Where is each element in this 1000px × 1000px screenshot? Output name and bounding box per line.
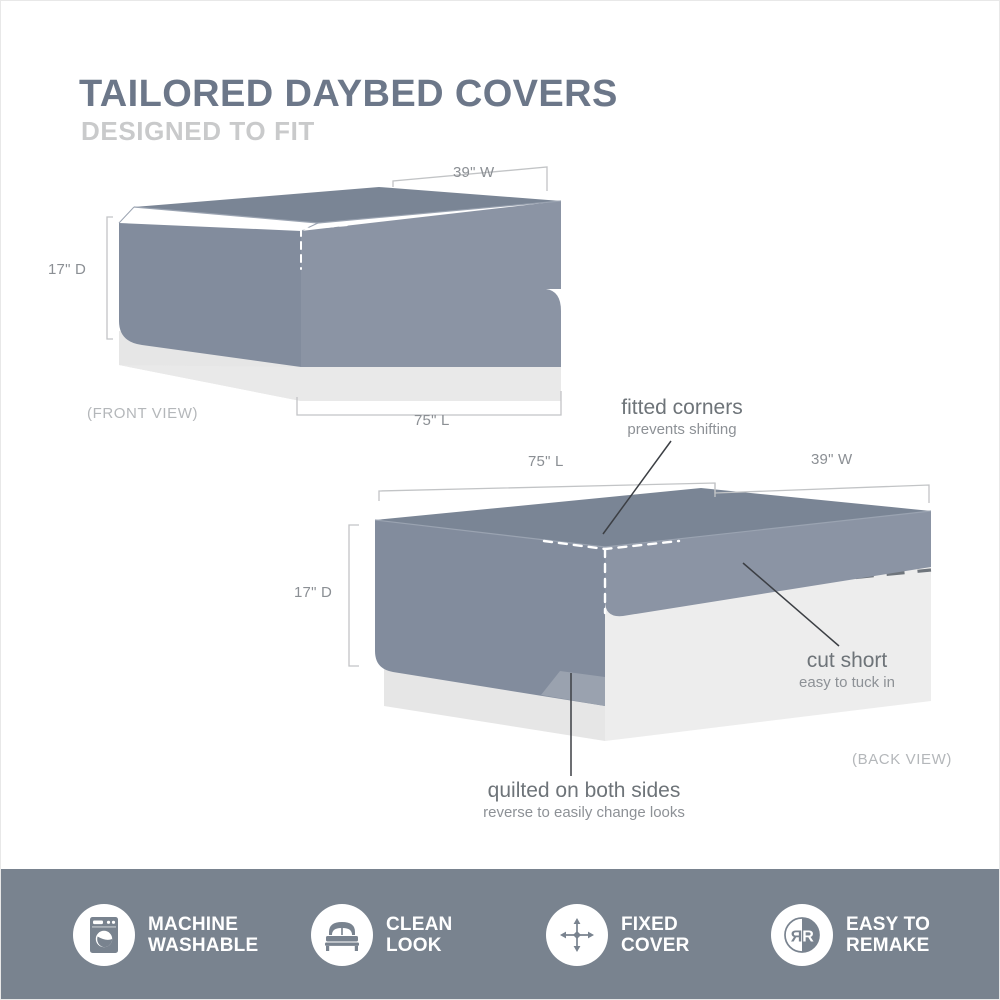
page-title: TAILORED DAYBED COVERS (79, 73, 618, 116)
front-dimension-width: 39" W (453, 164, 494, 181)
feature-label-fixed-cover: FIXED COVER (621, 914, 690, 957)
back-view-label: (BACK VIEW) (852, 751, 952, 768)
callout-cut-short-subtitle: easy to tuck in (799, 674, 895, 691)
back-dim-depth-bracket (349, 525, 359, 666)
front-dim-depth-bracket (107, 217, 113, 339)
product-diagram-artwork (1, 1, 1000, 1000)
svg-text:R: R (802, 929, 814, 946)
feature-label-easy-to-remake: EASY TO REMAKE (846, 914, 930, 957)
feature-easy-to-remake: R R EASY TO REMAKE (771, 891, 930, 979)
callout-quilted-subtitle: reverse to easily change looks (483, 804, 685, 821)
front-dimension-depth: 17" D (48, 261, 86, 278)
front-cover-long-side (119, 223, 301, 367)
feature-label-clean-look: CLEAN LOOK (386, 914, 452, 957)
page-subtitle: DESIGNED TO FIT (81, 116, 315, 147)
front-dimension-length: 75" L (414, 412, 450, 429)
back-view-diagram (349, 483, 931, 741)
feature-label-machine-washable: MACHINE WASHABLE (148, 914, 258, 957)
callout-fitted-corners-title: fitted corners (621, 396, 742, 420)
callout-cut-short-title: cut short (807, 649, 888, 673)
feature-fixed-cover: FIXED COVER (546, 891, 690, 979)
feature-clean-look: CLEAN LOOK (311, 891, 452, 979)
four-way-arrows-icon (546, 904, 608, 966)
callout-quilted-title: quilted on both sides (488, 779, 681, 803)
back-dimension-width: 39" W (811, 451, 852, 468)
svg-text:R: R (790, 929, 802, 946)
back-dimension-depth: 17" D (294, 584, 332, 601)
bed-icon (311, 904, 373, 966)
back-dimension-length: 75" L (528, 453, 564, 470)
feature-band: MACHINE WASHABLE CLEAN LOOK (1, 869, 1000, 1000)
washing-machine-icon (73, 904, 135, 966)
front-view-label: (FRONT VIEW) (87, 405, 198, 422)
front-view-diagram (107, 167, 561, 415)
mirrored-r-logo-icon: R R (771, 904, 833, 966)
infographic-page: TAILORED DAYBED COVERS DESIGNED TO FIT 3… (0, 0, 1000, 1000)
feature-machine-washable: MACHINE WASHABLE (73, 891, 258, 979)
callout-fitted-corners-subtitle: prevents shifting (627, 421, 736, 438)
